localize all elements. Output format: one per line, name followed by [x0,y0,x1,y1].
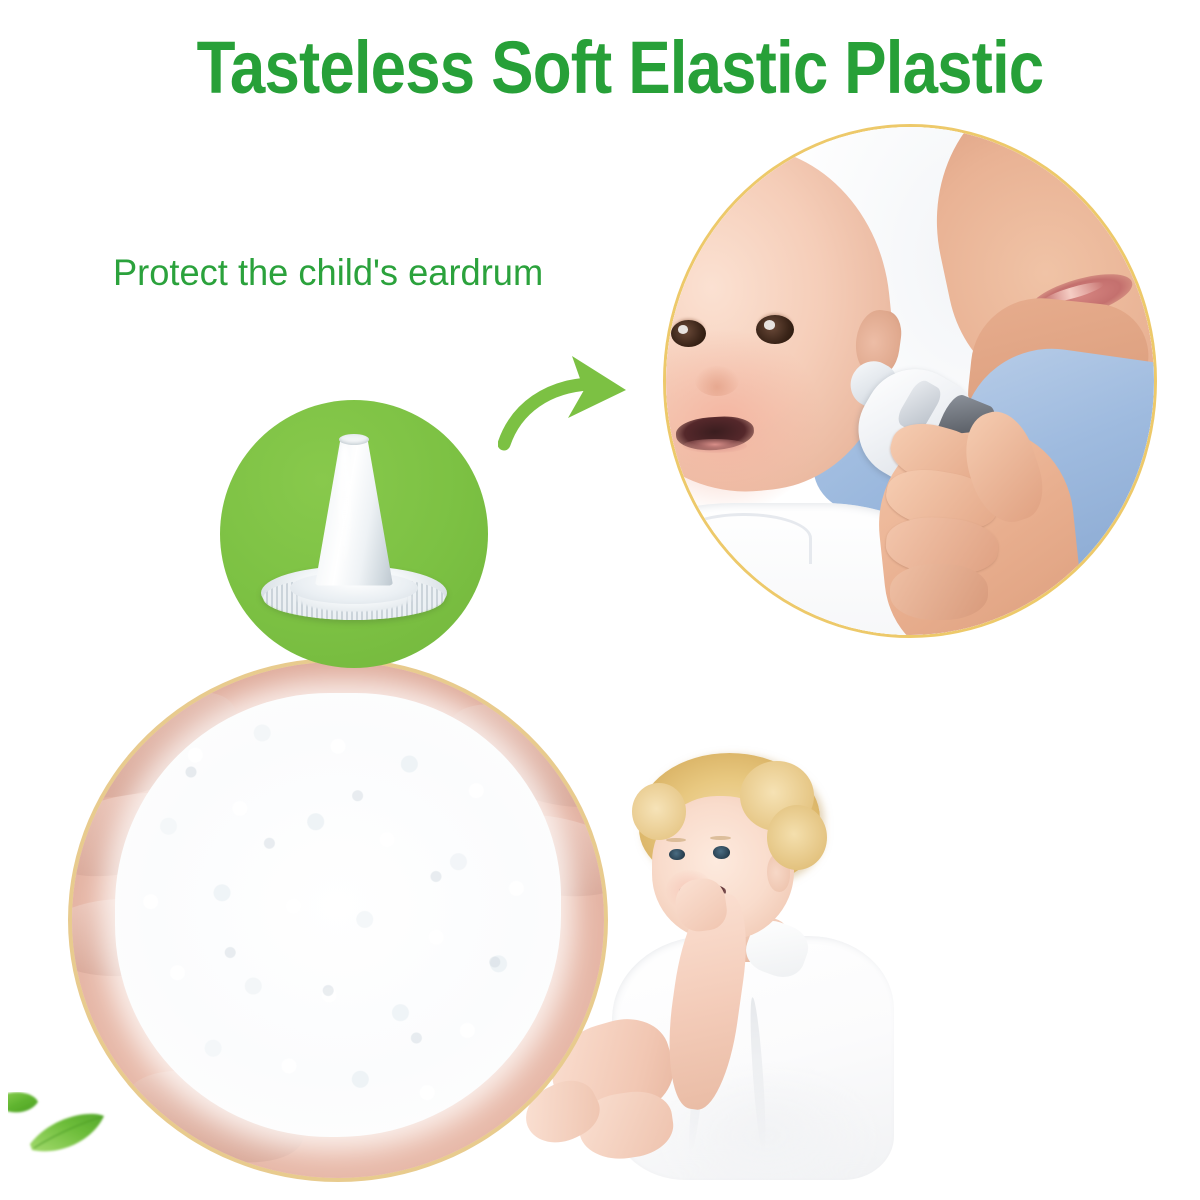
plastic-pellet-texture [93,677,582,1152]
photo-hands-holding-plastic-pellets [68,658,608,1182]
badge-probe-cover [220,400,488,668]
baby-nose [695,366,739,396]
toddler-eyebrow-right [710,836,732,840]
baby-shirt-collar [676,513,813,564]
hair-curl-3 [632,783,686,840]
page-title: Tasteless Soft Elastic Plastic [130,28,1110,108]
product-feature-banner: Tasteless Soft Elastic Plastic Protect t… [0,0,1200,1200]
hair-curl-2 [767,805,827,870]
baby-lower-lip [683,439,746,452]
probe-cover-cone [315,438,393,586]
green-leaves-decoration-icon [8,1092,148,1182]
probe-cover-tip-opening [339,434,369,445]
toddler-right-eye [713,846,730,858]
photo-seated-toddler [592,744,928,1180]
feature-subtitle: Protect the child's eardrum [113,250,543,296]
probe-cover-highlight [338,443,351,563]
curved-arrow-right-icon [498,352,638,452]
toddler-left-eye [669,849,684,860]
photo-mother-taking-baby-ear-temperature [663,124,1157,638]
toddler-eyebrow-left [666,838,686,842]
mother-finger-4 [890,564,988,620]
